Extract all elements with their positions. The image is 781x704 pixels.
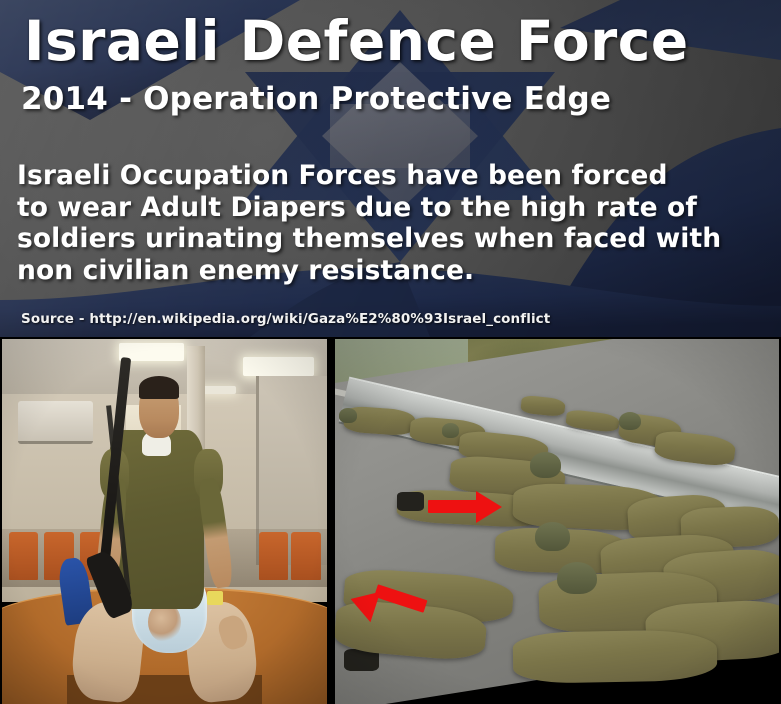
- body-paragraph: Israeli Occupation Forces have been forc…: [17, 160, 765, 286]
- soldier-helmet: [442, 423, 460, 438]
- page-subtitle: 2014 - Operation Protective Edge: [21, 81, 611, 117]
- arrow-shaft: [428, 500, 478, 513]
- soldier-hair: [139, 376, 180, 400]
- prone-soldier: [512, 629, 717, 684]
- poster: Israeli Defence Force 2014 - Operation P…: [0, 0, 781, 704]
- body-line-4: non civilian enemy resistance.: [17, 255, 765, 287]
- arrow-head: [476, 491, 502, 523]
- soldier-helmet: [535, 522, 571, 551]
- header-text-group: Israeli Defence Force 2014 - Operation P…: [0, 0, 781, 337]
- photo-left-soldier-indoors: [2, 339, 327, 704]
- photo-strip: [0, 337, 781, 704]
- yellow-object: [207, 591, 223, 606]
- soldier-helmet: [619, 412, 641, 430]
- source-citation: Source - http://en.wikipedia.org/wiki/Ga…: [21, 311, 550, 327]
- photo-right-soldiers-prone: [335, 339, 779, 704]
- soldier-helmet: [557, 562, 597, 595]
- office-chair: [9, 532, 38, 579]
- body-line-2: to wear Adult Diapers due to the high ra…: [17, 192, 765, 224]
- body-line-3: soldiers urinating themselves when faced…: [17, 223, 765, 255]
- soldier-helmet: [530, 452, 561, 478]
- header-banner: Israeli Defence Force 2014 - Operation P…: [0, 0, 781, 337]
- office-chair: [291, 532, 320, 579]
- office-chair: [259, 532, 288, 579]
- ceiling-light: [243, 357, 315, 375]
- page-title: Israeli Defence Force: [24, 9, 689, 73]
- soldier-helmet: [339, 408, 357, 423]
- air-conditioner: [18, 401, 93, 444]
- soldier-boot: [397, 492, 424, 510]
- body-line-1: Israeli Occupation Forces have been forc…: [17, 160, 765, 192]
